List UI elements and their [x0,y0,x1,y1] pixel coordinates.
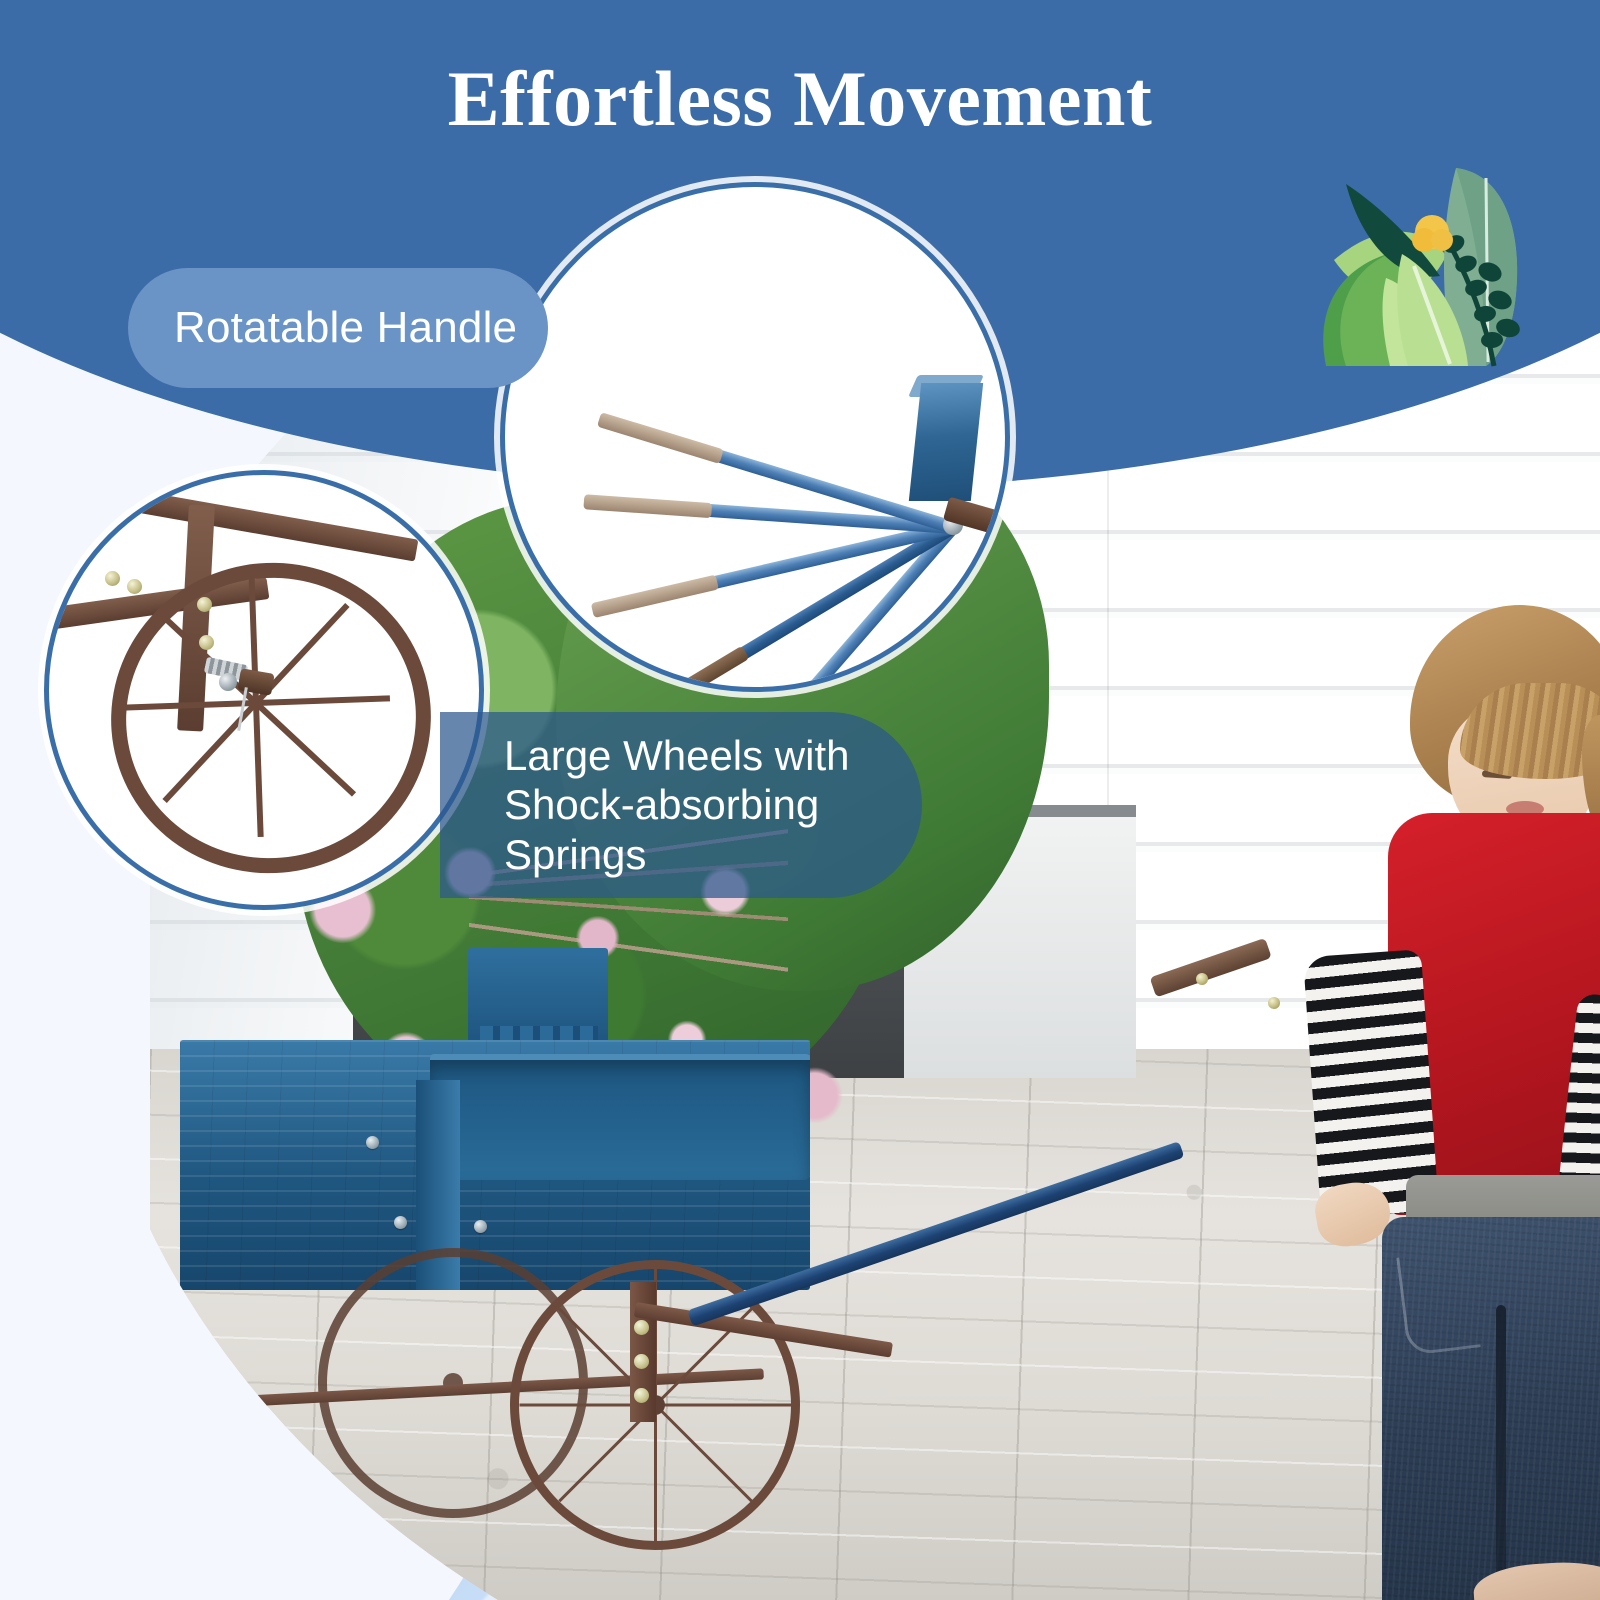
wheel-closeup [49,475,479,905]
label-large-wheels-line3: Springs [504,830,850,880]
wheel-spoke [256,695,391,706]
handle-position-3 [591,521,954,617]
wheel-hub [219,673,237,691]
cart-bolt [634,1354,649,1369]
frame-bolt [105,571,120,586]
grip-bolt [1268,997,1280,1009]
jeans-inseam [1496,1305,1506,1600]
label-large-wheels: Large Wheels with Shock-absorbing Spring… [440,712,922,898]
handle-fan [505,187,1005,687]
page-title: Effortless Movement [448,60,1153,138]
frame-bolt [127,579,142,594]
label-rotatable-handle: Rotatable Handle [128,268,548,388]
handle-position-2 [633,522,957,692]
cart-trough [430,1060,810,1180]
wheel-spoke [122,700,257,711]
wheel-spoke [654,1405,657,1541]
leaf-cluster-decoration [1290,160,1590,370]
promo-image: Effortless Movement [0,0,1600,1600]
cart-screw [474,1220,487,1233]
wheel-spoke [253,703,264,838]
label-large-wheels-block: Large Wheels with Shock-absorbing Spring… [504,731,850,880]
cart-bolt [634,1320,649,1335]
label-rotatable-handle-text: Rotatable Handle [174,303,517,353]
jeans-pocket [1396,1249,1481,1356]
handle-grip [591,575,719,618]
wheel-spoke [162,701,258,803]
label-large-wheels-line2: Shock-absorbing [504,780,850,830]
child-figure [1310,605,1600,1600]
wheel-spoke [655,1404,791,1407]
handle-socket [909,383,983,501]
wheel-bolt [199,635,214,650]
handle-grip [597,412,724,464]
wheel-spoke [654,1404,752,1502]
cart-bolt [634,1388,649,1403]
grip-bolt [1196,973,1208,985]
label-large-wheels-line1: Large Wheels with [504,731,850,781]
rotatable-handle-inset [500,182,1010,692]
handle-grip [632,646,749,692]
wheel-spoke [254,701,356,797]
handle-grip [583,494,712,518]
cart-screw [394,1216,407,1229]
wheel-spring-inset [44,470,484,910]
wheel-bolt [197,597,212,612]
cart-screw [366,1136,379,1149]
leaf-cluster-icon [1290,160,1590,370]
